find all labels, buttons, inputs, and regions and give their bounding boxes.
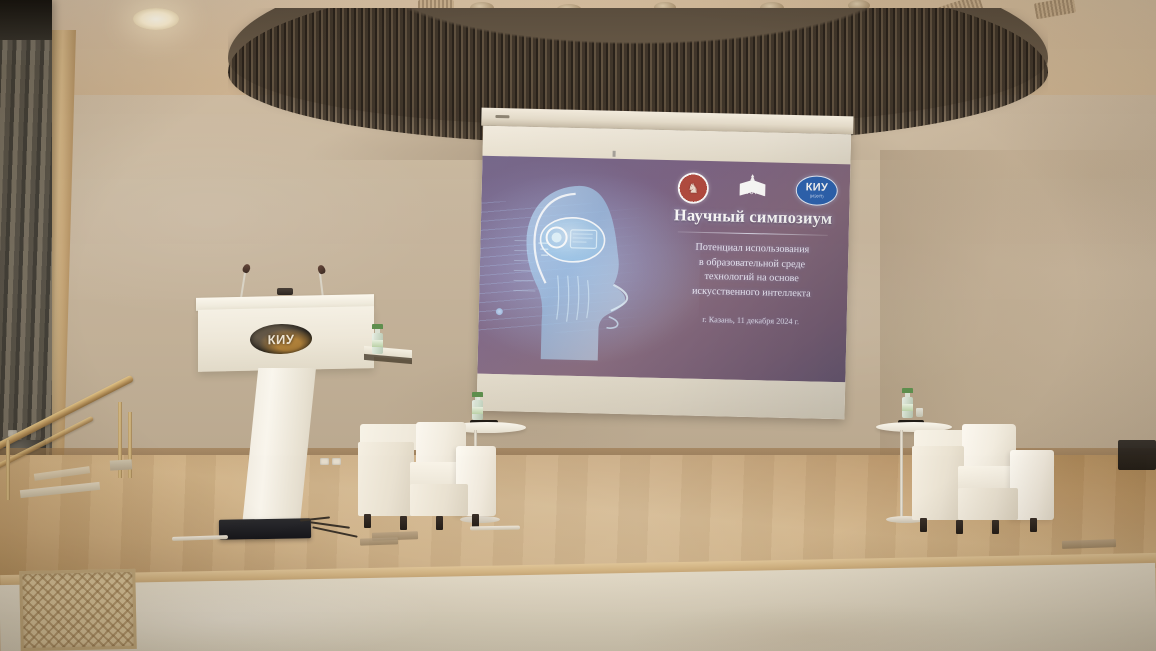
stair-landing — [110, 459, 132, 470]
armchair-leg — [364, 514, 371, 528]
armchair-base — [958, 488, 1018, 520]
slide-divider — [678, 231, 828, 236]
armchair-leg — [400, 516, 407, 530]
armchair-backrest — [962, 424, 1016, 470]
kiu-sublabel: (ИЭУП) — [810, 194, 824, 198]
presentation-slide: ♞ ИРО РТ КИУ (ИЭУП) Научный симпозиум — [477, 156, 850, 383]
mouse-cursor — [613, 151, 616, 157]
ai-head-graphic — [512, 178, 648, 366]
iro-rt-logo: ИРО РТ — [737, 173, 768, 206]
kiu-logo: КИУ (ИЭУП) — [795, 175, 838, 206]
armchair-leg — [956, 520, 963, 534]
slide-title: Научный симпозиум — [663, 206, 843, 228]
iro-label: ИРО РТ — [737, 190, 767, 196]
projection-screen-surface: ♞ ИРО РТ КИУ (ИЭУП) Научный симпозиум — [477, 126, 852, 420]
water-bottle — [472, 392, 483, 420]
bottle-label — [372, 340, 383, 347]
floor-socket-plate — [360, 537, 398, 545]
armchair-near-arm — [912, 446, 964, 520]
photo-scene: ♞ ИРО РТ КИУ (ИЭУП) Научный симпозиум — [0, 0, 1156, 651]
roller-tab — [495, 115, 509, 118]
left-curtain — [0, 0, 52, 470]
handrail-post — [6, 440, 10, 500]
armchair-leg — [920, 518, 927, 532]
bottle-label — [472, 407, 483, 414]
ceiling-downlight — [133, 8, 179, 30]
snow-leopard-glyph: ♞ — [687, 181, 699, 194]
podium-logo-text: КИУ — [268, 331, 295, 347]
microphone-base — [277, 288, 293, 295]
curtain-header — [0, 0, 52, 40]
armchair-leg — [992, 520, 999, 534]
armchair-right — [906, 420, 1066, 540]
slide-subtitle-line: искусственного интеллекта — [661, 284, 841, 303]
equipment-box — [1118, 440, 1156, 470]
cable-ramp — [219, 518, 311, 540]
slide-subtitle: Потенциал использования в образовательно… — [661, 240, 842, 302]
projection-screen-assembly: ♞ ИРО РТ КИУ (ИЭУП) Научный симпозиум — [466, 107, 861, 421]
armchair-left — [352, 418, 508, 536]
wall-socket — [332, 458, 341, 465]
podium-column — [242, 368, 316, 526]
armchair-base — [410, 484, 468, 516]
armchair-leg — [1030, 518, 1037, 532]
tatarstan-coat-of-arms-logo: ♞ — [677, 172, 709, 204]
bottle-label — [902, 404, 913, 411]
bottle-body — [372, 333, 383, 354]
head-profile-silhouette — [512, 178, 648, 366]
side-table-stem — [900, 430, 903, 518]
wall-socket — [320, 458, 329, 465]
water-bottle — [372, 324, 383, 354]
slide-logo-row: ♞ ИРО РТ КИУ (ИЭУП) — [677, 170, 838, 208]
drinking-glass — [916, 408, 923, 417]
armchair-near-arm — [358, 442, 414, 516]
slide-text-block: Научный симпозиум Потенциал использовани… — [661, 206, 844, 327]
water-bottle — [902, 388, 913, 418]
armchair-leg — [436, 516, 443, 530]
decorative-lattice-panel — [19, 569, 137, 651]
screen-blank-bottom — [477, 374, 846, 420]
bottle-body — [902, 397, 913, 418]
kiu-label: КИУ — [806, 182, 829, 194]
